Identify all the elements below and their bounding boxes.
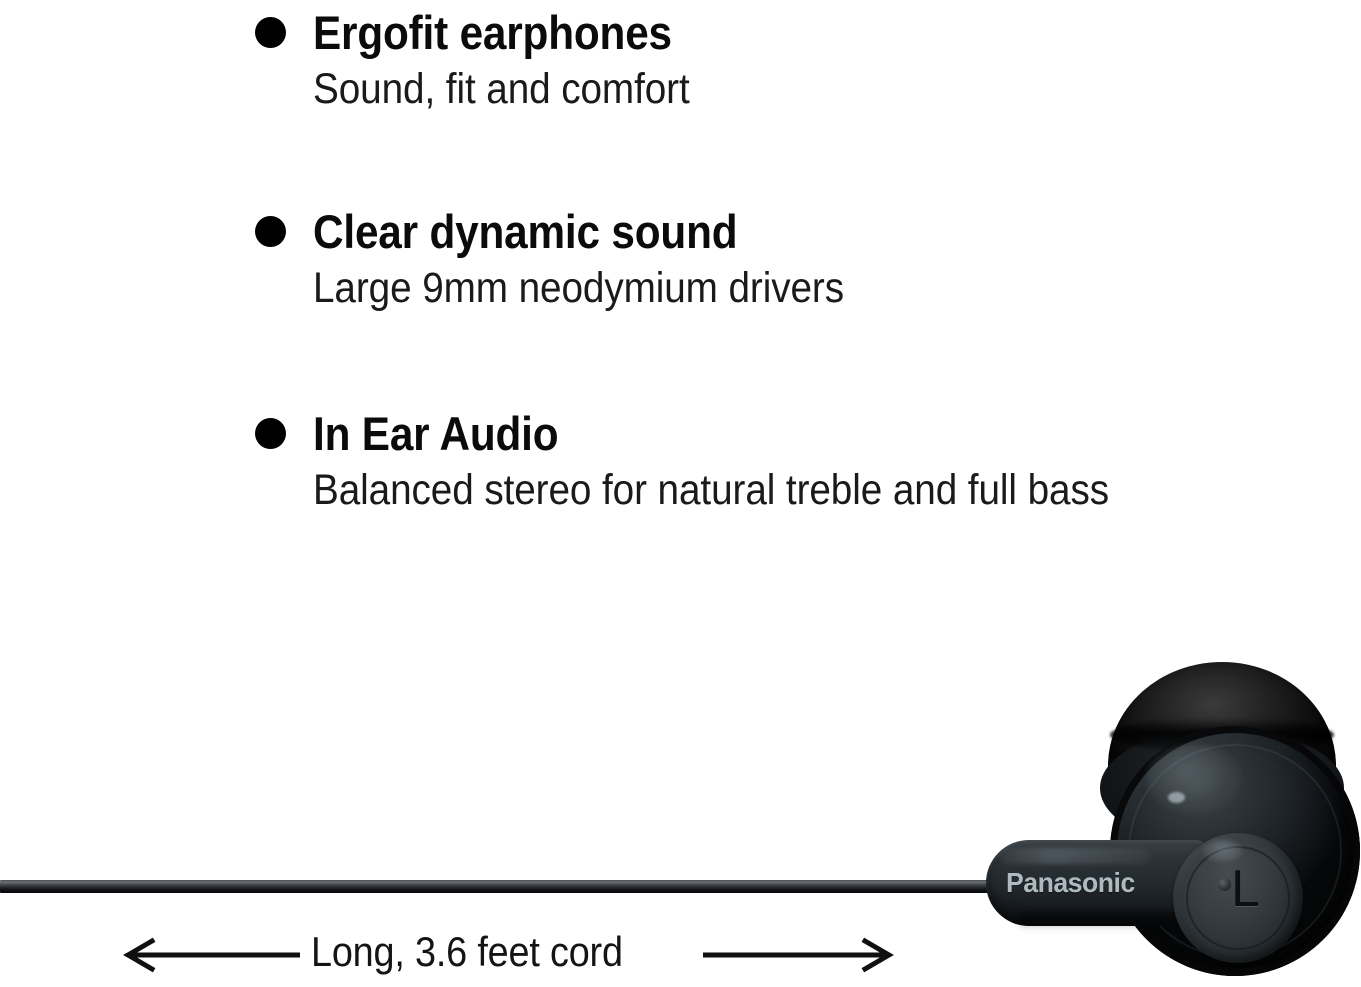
earbud-housing-highlight [1146,744,1242,814]
cord-length-annotation: Long, 3.6 feet cord [0,920,1361,987]
feature-title: Clear dynamic sound [313,203,737,261]
left-channel-mark: L [1231,863,1260,915]
earbud-specular-highlight [1168,792,1185,803]
bullet-point-icon [255,17,286,48]
infographic-canvas: Ergofit earphones Sound, fit and comfort… [0,0,1361,987]
earbud-driver-boss-highlight [1203,840,1243,862]
earbud-stem-highlight [1000,848,1150,864]
cord-length-label: Long, 3.6 feet cord [311,926,623,978]
feature-subtitle: Balanced stereo for natural treble and f… [313,463,1109,517]
cord-length-arrow-icon [0,920,1361,987]
feature-title: In Ear Audio [313,405,558,463]
bullet-point-icon [255,216,286,247]
earphone-cord [0,880,1000,893]
feature-subtitle: Large 9mm neodymium drivers [313,261,844,315]
bullet-point-icon [255,418,286,449]
channel-orientation-nub-icon [1218,878,1231,891]
panasonic-brand-label: Panasonic [1006,868,1177,898]
feature-subtitle: Sound, fit and comfort [313,62,690,116]
feature-title: Ergofit earphones [313,4,672,62]
